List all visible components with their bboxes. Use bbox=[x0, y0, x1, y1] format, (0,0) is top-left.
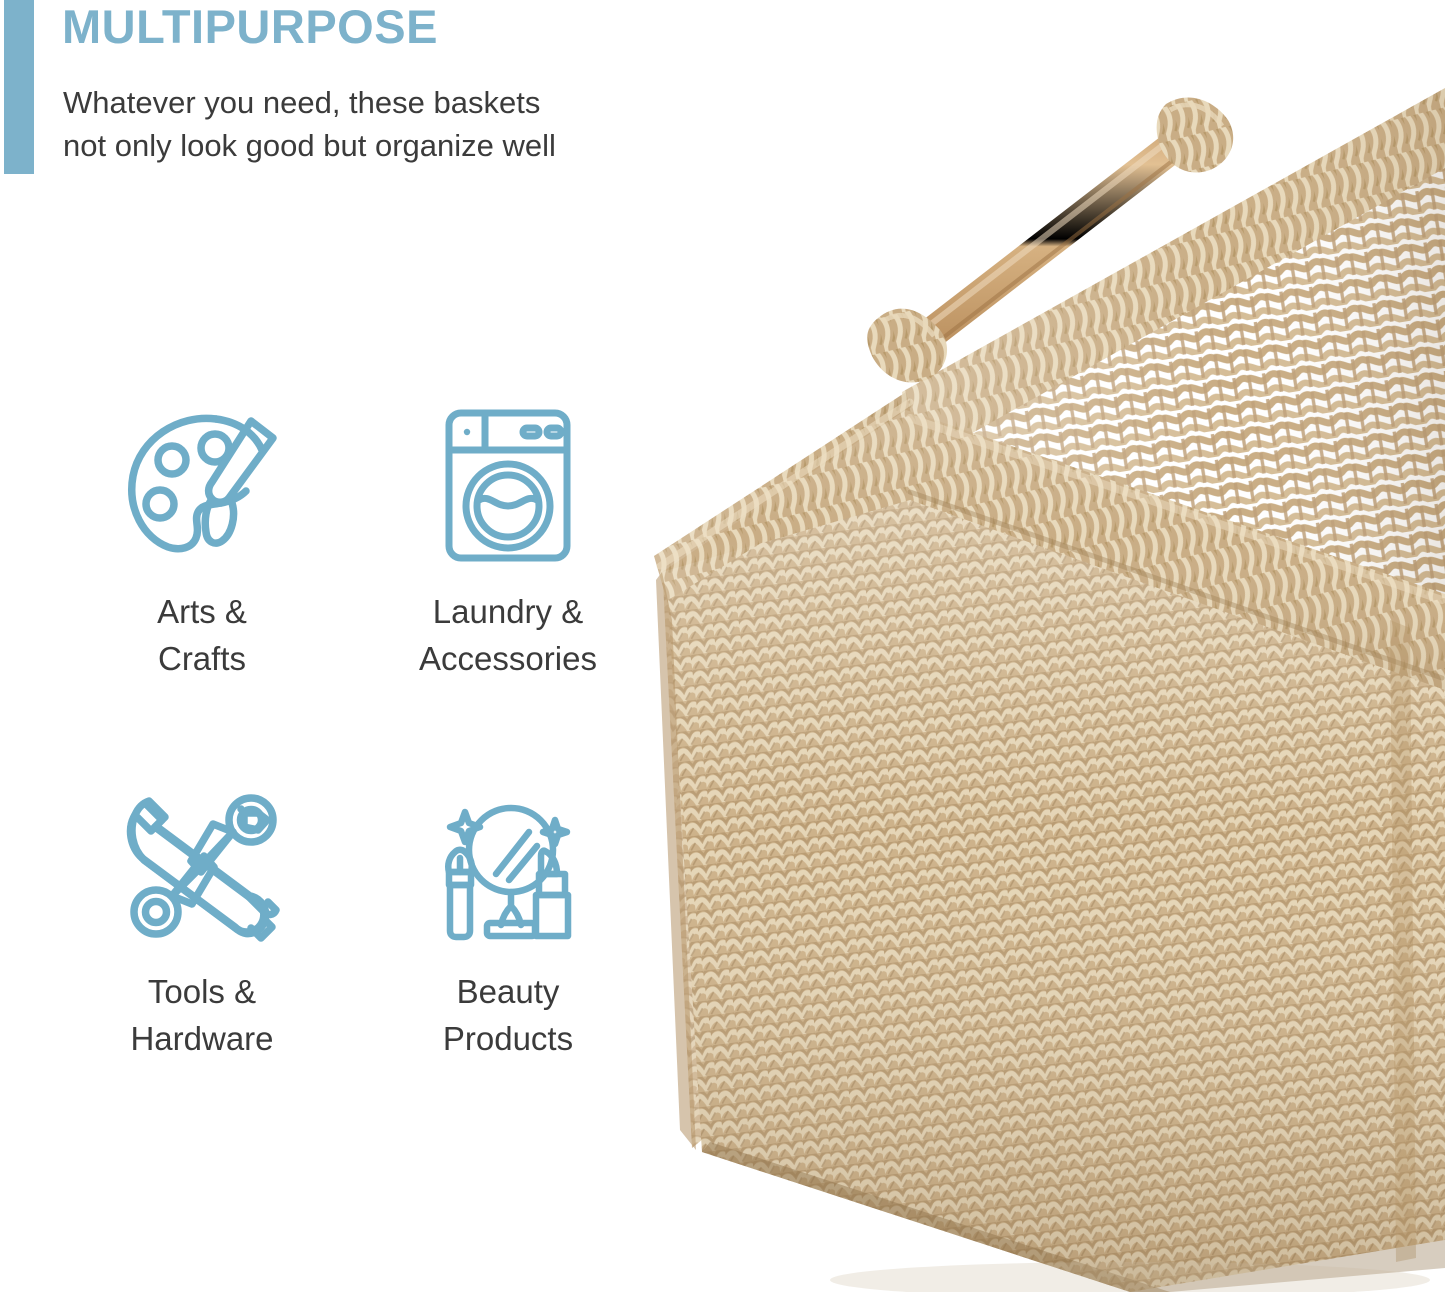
product-infographic-page: MULTIPURPOSE Whatever you need, these ba… bbox=[0, 0, 1445, 1292]
feature-tools-hardware: Tools & Hardware bbox=[52, 785, 352, 1063]
product-photo-basket bbox=[610, 0, 1445, 1292]
feature-label-tools-hardware: Tools & Hardware bbox=[52, 969, 352, 1063]
crossed-wrenches-icon bbox=[52, 785, 352, 945]
palette-paintbrush-icon bbox=[52, 405, 352, 565]
feature-label-line-2: Hardware bbox=[52, 1016, 352, 1063]
page-title: MULTIPURPOSE bbox=[62, 2, 438, 51]
feature-label-line-1: Tools & bbox=[52, 969, 352, 1016]
feature-label-arts-crafts: Arts & Crafts bbox=[52, 589, 352, 683]
accent-bar bbox=[4, 0, 34, 174]
feature-label-line-2: Crafts bbox=[52, 636, 352, 683]
feature-label-line-1: Arts & bbox=[52, 589, 352, 636]
feature-arts-crafts: Arts & Crafts bbox=[52, 405, 352, 683]
